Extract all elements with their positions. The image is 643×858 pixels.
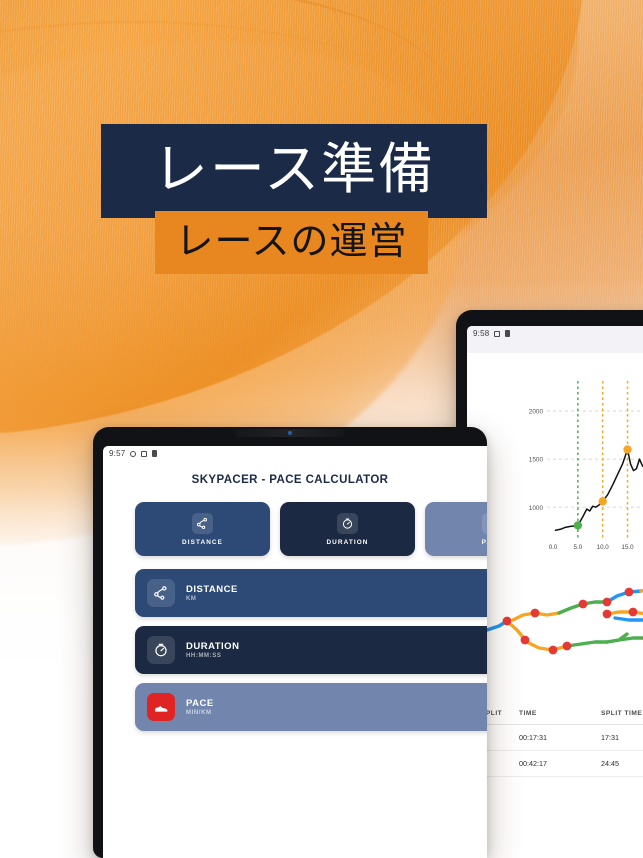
stopwatch-icon <box>337 513 358 534</box>
elevation-series-line <box>555 391 643 530</box>
chart-marker <box>623 445 631 453</box>
field-pace-label: PACE <box>186 698 214 709</box>
status-screenshot-icon <box>141 451 147 457</box>
x-tick-label: 0.0 <box>549 544 558 551</box>
calculator-status-bar: 9:57 <box>103 446 487 460</box>
field-duration-label: DURATION <box>186 641 239 652</box>
y-tick-label: 1000 <box>529 505 544 512</box>
elevation-chart: 1000150020000.05.010.015.020.025.030.ELE… <box>467 353 643 568</box>
tab-pace[interactable]: PACE <box>425 502 487 556</box>
field-pace[interactable]: PACE MIN/KM <box>135 683 487 731</box>
cell-time: 00:42:17 <box>519 751 601 777</box>
column-header-time: TIME <box>519 703 601 725</box>
tab-duration[interactable]: DURATION <box>280 502 415 556</box>
tab-duration-label: DURATION <box>326 539 368 546</box>
battery-icon <box>152 450 157 457</box>
route-map <box>467 568 643 703</box>
field-duration-text: DURATION HH:MM:SS <box>186 641 239 659</box>
analytics-status-bar: 9:58 <box>467 326 643 340</box>
status-screenshot-icon <box>494 331 500 337</box>
status-bar-time: 9:58 <box>473 329 489 338</box>
cell-split-time: 24:45 <box>601 751 643 777</box>
field-distance-unit: KM <box>186 596 238 602</box>
chart-marker <box>574 521 582 529</box>
tab-distance[interactable]: DISTANCE <box>135 502 270 556</box>
x-tick-label: 10.0 <box>597 544 610 551</box>
field-pace-unit: MIN/KM <box>186 710 214 716</box>
field-distance-text: DISTANCE KM <box>186 584 238 602</box>
field-pace-text: PACE MIN/KM <box>186 698 214 716</box>
column-header-split-time: SPLIT TIME <box>601 703 643 725</box>
splits-table: SPLIT TIME SPLIT TIME 1 00:17:31 17:31 2 <box>481 703 643 777</box>
y-tick-label: 1500 <box>529 457 544 464</box>
stopwatch-icon <box>147 636 175 664</box>
field-duration[interactable]: DURATION HH:MM:SS <box>135 626 487 674</box>
status-bar-time: 9:57 <box>109 449 125 458</box>
x-tick-label: 15.0 <box>622 544 635 551</box>
y-tick-label: 2000 <box>529 409 544 416</box>
analytics-screen: 9:58 1000150020000.05.010.015.020.025.03… <box>467 326 643 858</box>
battery-icon <box>505 330 510 337</box>
chart-marker <box>598 497 606 505</box>
screenshot-canvas: レース準備 レースの運営 9:58 1000150020000.05.010.0… <box>0 0 643 858</box>
field-distance[interactable]: DISTANCE KM <box>135 569 487 617</box>
mode-tab-row: DISTANCE DURATION <box>135 502 487 556</box>
route-icon <box>147 579 175 607</box>
input-field-list: DISTANCE KM DURATION HH:MM:SS <box>135 569 487 731</box>
calculator-screen: 9:57 SKYPACER - PACE CALCULATOR <box>103 446 487 858</box>
elevation-chart-svg: 1000150020000.05.010.015.020.025.030.ELE… <box>467 353 643 568</box>
route-map-svg <box>467 568 643 703</box>
shoe-icon <box>147 693 175 721</box>
field-distance-label: DISTANCE <box>186 584 238 595</box>
table-row[interactable]: 1 00:17:31 17:31 <box>481 725 643 751</box>
splits-table-header-row: SPLIT TIME SPLIT TIME <box>481 703 643 725</box>
route-icon <box>192 513 213 534</box>
tab-pace-label: PACE <box>482 539 487 546</box>
cell-split-time: 17:31 <box>601 725 643 751</box>
headline-secondary-text: レースの運営 <box>175 223 407 261</box>
headline-banner-primary: レース準備 <box>101 124 487 218</box>
shoe-icon <box>482 513 487 534</box>
location-icon <box>130 451 136 457</box>
table-row[interactable]: 2 00:42:17 24:45 <box>481 751 643 777</box>
tablet-device-calculator: 9:57 SKYPACER - PACE CALCULATOR <box>93 427 487 858</box>
headline-banner-secondary: レースの運営 <box>155 211 428 274</box>
field-duration-unit: HH:MM:SS <box>186 653 239 659</box>
x-tick-label: 5.0 <box>574 544 583 551</box>
tab-distance-label: DISTANCE <box>182 539 223 546</box>
analytics-app-bar: 9:58 <box>467 326 643 353</box>
page-title: SKYPACER - PACE CALCULATOR <box>103 474 487 486</box>
splits-table-container: SPLIT TIME SPLIT TIME 1 00:17:31 17:31 2 <box>467 703 643 777</box>
camera-icon <box>288 431 292 435</box>
headline-primary-text: レース準備 <box>153 142 435 197</box>
cell-time: 00:17:31 <box>519 725 601 751</box>
